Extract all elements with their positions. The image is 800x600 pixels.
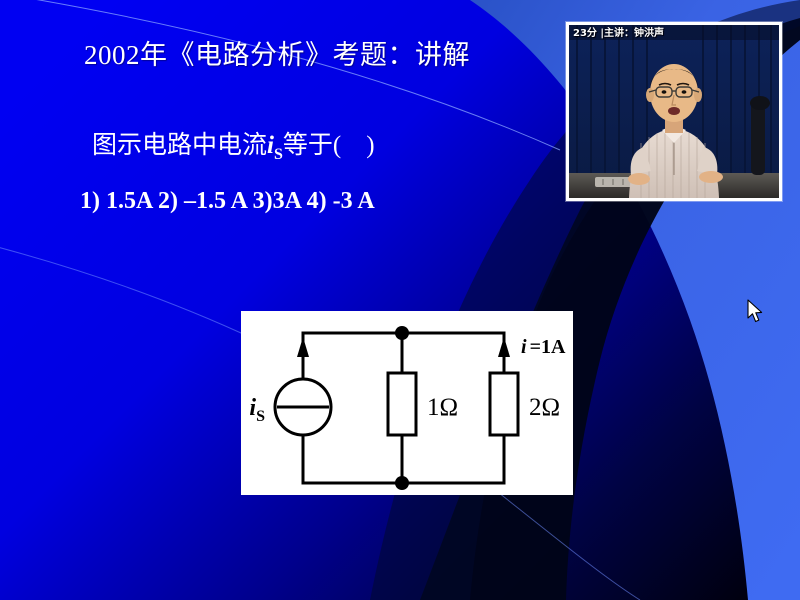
eye-right — [682, 90, 687, 94]
ear-left — [646, 88, 654, 102]
source-label: iS — [249, 395, 265, 425]
hand-right — [699, 171, 723, 183]
page-title: 2002年《电路分析》考题：讲解 — [84, 38, 470, 72]
video-frame[interactable]: 23分 |主讲：钟洪声 — [569, 25, 779, 198]
resistor-2ohm-label: 2Ω — [529, 394, 560, 421]
eye-left — [662, 90, 667, 94]
current-source-symbol — [275, 379, 331, 435]
node-top — [395, 326, 409, 340]
slide-stage: 2002年《电路分析》考题：讲解 图示电路中电流iS等于( ) 1) 1.5A … — [0, 0, 800, 600]
mouth — [668, 107, 680, 115]
question-text: 图示电路中电流iS等于( ) — [92, 130, 375, 170]
question-variable: i — [267, 132, 274, 159]
circuit-diagram-figure: iS 1Ω 2Ω i=1A — [241, 311, 573, 495]
branch-current-arrow — [498, 337, 510, 373]
question-suffix: 等于( ) — [283, 132, 375, 159]
question-variable-subscript: S — [274, 146, 283, 163]
video-still-image — [569, 25, 779, 198]
video-caption-overlay: 23分 |主讲：钟洪声 — [573, 27, 664, 40]
source-current-arrow — [297, 337, 309, 379]
resistor-2ohm — [490, 373, 518, 435]
branch-current-label: i=1A — [521, 336, 566, 358]
ear-right — [694, 88, 702, 102]
question-prefix: 图示电路中电流 — [92, 132, 267, 159]
node-bottom — [395, 476, 409, 490]
resistor-1ohm — [388, 373, 416, 435]
circuit-diagram-svg: iS 1Ω 2Ω i=1A — [241, 311, 573, 495]
hand-left — [628, 173, 650, 185]
video-player-window[interactable]: 23分 |主讲：钟洪声 — [566, 22, 782, 201]
answer-options-text: 1) 1.5A 2) –1.5 A 3)3A 4) -3 A — [80, 186, 375, 216]
resistor-1ohm-label: 1Ω — [427, 394, 458, 421]
